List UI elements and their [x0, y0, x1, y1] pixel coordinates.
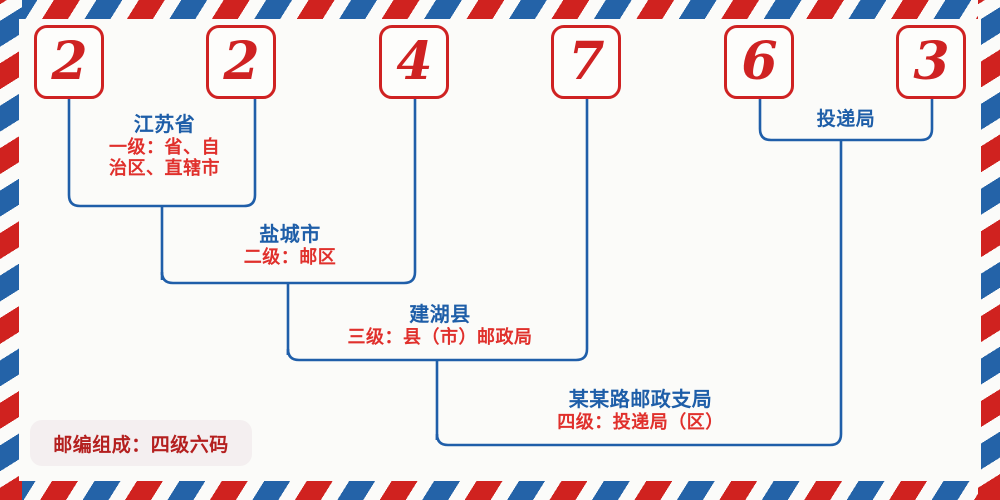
level-2-desc: 二级：邮区: [175, 248, 405, 269]
level-1-desc: 一级：省、自 治区、直辖市: [72, 138, 257, 180]
postcode-digit-1[interactable]: 2: [34, 25, 104, 99]
postcode-digit-4-value: 7: [554, 36, 618, 88]
postcode-digit-2-value: 2: [209, 36, 273, 88]
delivery-office-node: 投递局: [770, 108, 922, 130]
postcode-composition-badge: 邮编组成：四级六码: [30, 420, 252, 466]
postcode-digit-6-value: 3: [899, 36, 963, 88]
level-1-desc-line-2: 治区、直辖市: [72, 159, 257, 180]
level-4-name: 某某路邮政支局: [508, 388, 773, 411]
level-3-desc-line-1: 三级：县（市）邮政局: [300, 328, 580, 349]
level-4-desc: 四级：投递局（区）: [508, 413, 773, 434]
postcode-digit-4[interactable]: 7: [551, 25, 621, 99]
level-1-node: 江苏省 一级：省、自 治区、直辖市: [72, 113, 257, 180]
level-2-name: 盐城市: [175, 223, 405, 246]
postcode-digit-1-value: 2: [37, 36, 101, 88]
level-3-node: 建湖县 三级：县（市）邮政局: [300, 303, 580, 349]
postcode-composition-badge-text: 邮编组成：四级六码: [53, 430, 229, 457]
postcode-digit-3[interactable]: 4: [379, 25, 449, 99]
postcode-digit-3-value: 4: [382, 36, 446, 88]
postcode-digit-2[interactable]: 2: [206, 25, 276, 99]
diagram-content: 2 2 4 7 6 3 江苏省 一级：省、自 治区、直辖市 盐城市: [0, 0, 1000, 500]
level-4-node: 某某路邮政支局 四级：投递局（区）: [508, 388, 773, 434]
delivery-office-name: 投递局: [770, 108, 922, 130]
level-1-name: 江苏省: [72, 113, 257, 136]
level-2-node: 盐城市 二级：邮区: [175, 223, 405, 269]
postcode-digit-5-value: 6: [727, 36, 791, 88]
level-4-desc-line-1: 四级：投递局（区）: [508, 413, 773, 434]
level-2-desc-line-1: 二级：邮区: [175, 248, 405, 269]
postcode-diagram-page: 2 2 4 7 6 3 江苏省 一级：省、自 治区、直辖市 盐城市: [0, 0, 1000, 500]
level-3-name: 建湖县: [300, 303, 580, 326]
postcode-digit-5[interactable]: 6: [724, 25, 794, 99]
level-3-desc: 三级：县（市）邮政局: [300, 328, 580, 349]
postcode-digit-6[interactable]: 3: [896, 25, 966, 99]
level-1-desc-line-1: 一级：省、自: [72, 138, 257, 159]
